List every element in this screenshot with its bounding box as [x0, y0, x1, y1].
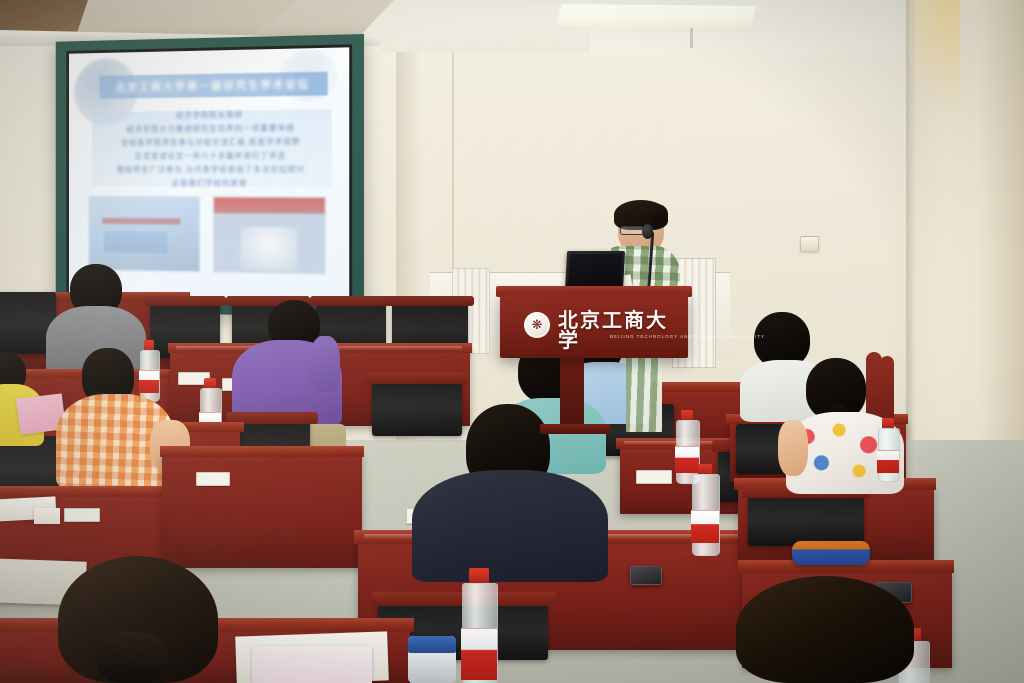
warm-light-glow — [900, 0, 960, 120]
podium-institution-text: 北京工商大学 — [558, 310, 688, 350]
mobile-phone[interactable] — [630, 566, 662, 585]
slide-title-text: 北京工商大学第一届研究生学术论坛 — [116, 76, 311, 95]
chair-frame — [366, 372, 468, 384]
bottle-cap — [469, 568, 488, 584]
blue-lidded-cup[interactable] — [408, 636, 456, 683]
cup-lid — [408, 636, 456, 653]
desk-name-card — [196, 472, 230, 486]
water-bottle[interactable] — [692, 464, 718, 554]
desk-surface — [160, 446, 364, 457]
fluorescent-ceiling-light — [556, 4, 756, 30]
chair-frame — [310, 296, 392, 306]
slide-line: 经济学院院长致辞 — [176, 109, 243, 120]
water-bottle[interactable] — [462, 568, 496, 683]
glasses-icon — [620, 226, 644, 235]
slide-title-band: 北京工商大学第一届研究生学术论坛 — [99, 72, 327, 99]
desk-surface — [0, 486, 174, 497]
bottle-label — [461, 628, 497, 680]
slide-body: 经济学院院长致辞 经济学院大力推进研究生培养的一项重要举措 全校各学院师生参与分… — [92, 109, 331, 187]
arm — [310, 336, 340, 392]
microphone-head-icon — [642, 224, 653, 239]
slide-line: 我校师生广泛参与,与代表学校参加了多次论坛研讨 — [117, 164, 305, 175]
lecture-podium: ❋ 北京工商大学 BEIJING TECHNOLOGY AND BUSINESS… — [500, 294, 688, 358]
bottle-label — [139, 370, 159, 393]
ponytail — [96, 632, 168, 683]
slide-photo-left — [89, 196, 200, 272]
desk-name-card — [64, 508, 100, 522]
hair-bun — [646, 204, 668, 224]
slide-photo-right — [213, 196, 326, 274]
podium-base — [540, 424, 610, 434]
chair-frame — [386, 296, 474, 306]
water-bottle[interactable] — [140, 340, 158, 400]
university-logo-icon: ❋ — [524, 312, 550, 338]
podium-institution-subtext: BEIJING TECHNOLOGY AND BUSINESS UNIVERSI… — [610, 334, 765, 339]
crumpled-paper — [34, 508, 60, 524]
chair-frame — [144, 296, 226, 306]
slide-line: 正式宣读论文一共六十余篇并进行了评选 — [135, 150, 286, 161]
slide-line: 全校各学院师生参与分组交流汇报,拓宽学术视野 — [121, 136, 301, 148]
water-bottle[interactable] — [878, 418, 898, 480]
desk-row-3 — [162, 452, 362, 568]
head — [736, 576, 914, 683]
bottle-label — [691, 510, 719, 543]
laptop[interactable] — [565, 251, 625, 291]
wall-outlet-plate[interactable] — [800, 236, 819, 252]
slide-line: 经济学院大力推进研究生培养的一项重要举措 — [126, 122, 294, 134]
chair[interactable] — [748, 492, 864, 546]
torso — [412, 470, 608, 582]
bottle-label — [877, 450, 899, 473]
laptop-screen — [568, 254, 622, 287]
pencil-case[interactable] — [792, 541, 870, 565]
chair[interactable] — [372, 378, 462, 436]
screen-hanger-icon — [690, 28, 693, 48]
printed-handout[interactable] — [252, 646, 372, 683]
lecture-hall-photo: 北京工商大学第一届研究生学术论坛 经济学院院长致辞 经济学院大力推进研究生培养的… — [0, 0, 1024, 683]
projected-slide: 北京工商大学第一届研究生学术论坛 经济学院院长致辞 经济学院大力推进研究生培养的… — [69, 47, 349, 302]
arm — [778, 420, 808, 476]
slide-line: 这是我们学校的荣誉 — [172, 177, 248, 188]
podium-leg — [560, 358, 584, 428]
desk-name-card — [636, 470, 672, 484]
